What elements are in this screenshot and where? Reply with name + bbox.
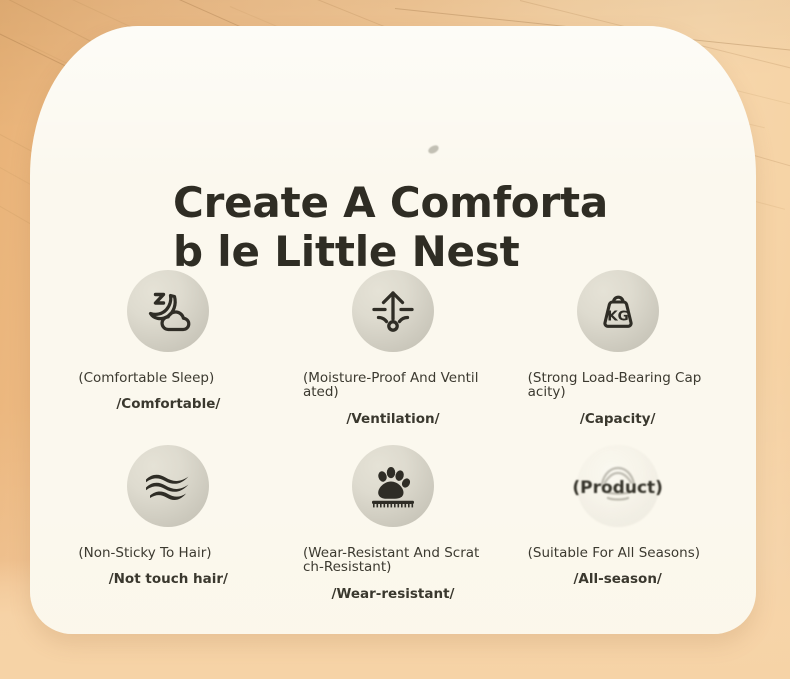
feature-subtitle: /Comfortable/ xyxy=(116,396,220,412)
feature-subtitle: /Not touch hair/ xyxy=(109,571,228,587)
feature-title: (Suitable For All Seasons) xyxy=(528,546,708,560)
feature-item-comfortable-sleep: (Comfortable Sleep) /Comfortable/ xyxy=(56,270,281,445)
feature-title: (Wear-Resistant And Scratch-Resistant) xyxy=(303,546,483,575)
image-speck-artifact xyxy=(427,144,440,155)
feature-item-all-season: (Product) (Suitable For All Seasons) /Al… xyxy=(505,445,730,620)
feature-subtitle: /All-season/ xyxy=(573,571,661,587)
feature-grid: (Comfortable Sleep) /Comfortable/ xyxy=(56,270,730,620)
feature-title: (Non-Sticky To Hair) xyxy=(78,546,258,560)
feature-title: (Moisture-Proof And Ventilated) xyxy=(303,371,483,400)
page-title: Create A Comfortab le Little Nest xyxy=(173,178,633,276)
feature-title: (Strong Load-Bearing Capacity) xyxy=(528,371,708,400)
airflow-up-arrow-ventilation-icon xyxy=(352,270,434,352)
feature-subtitle: /Ventilation/ xyxy=(346,411,439,427)
svg-text:KG: KG xyxy=(607,309,629,325)
feature-item-moisture-proof-ventilated: (Moisture-Proof And Ventilated) /Ventila… xyxy=(281,270,506,445)
feature-title: (Comfortable Sleep) xyxy=(78,371,258,385)
product-feature-card: Create A Comfortab le Little Nest xyxy=(30,26,756,634)
feature-subtitle: /Capacity/ xyxy=(580,411,656,427)
pet-bed-nest-icon: (Product) xyxy=(577,445,659,527)
feature-item-non-sticky-to-hair: (Non-Sticky To Hair) /Not touch hair/ xyxy=(56,445,281,620)
hair-strands-waves-icon xyxy=(127,445,209,527)
paw-print-on-textured-surface-icon xyxy=(352,445,434,527)
weight-kg-icon: KG xyxy=(577,270,659,352)
moon-sleep-zzz-icon xyxy=(127,270,209,352)
feature-item-wear-scratch-resistant: (Wear-Resistant And Scratch-Resistant) /… xyxy=(281,445,506,620)
feature-item-strong-load-bearing: KG (Strong Load-Bearing Capacity) /Capac… xyxy=(505,270,730,445)
product-overlay-label: (Product) xyxy=(572,478,663,498)
screenshot-stage: Create A Comfortab le Little Nest xyxy=(0,0,790,679)
feature-subtitle: /Wear-resistant/ xyxy=(332,586,455,602)
